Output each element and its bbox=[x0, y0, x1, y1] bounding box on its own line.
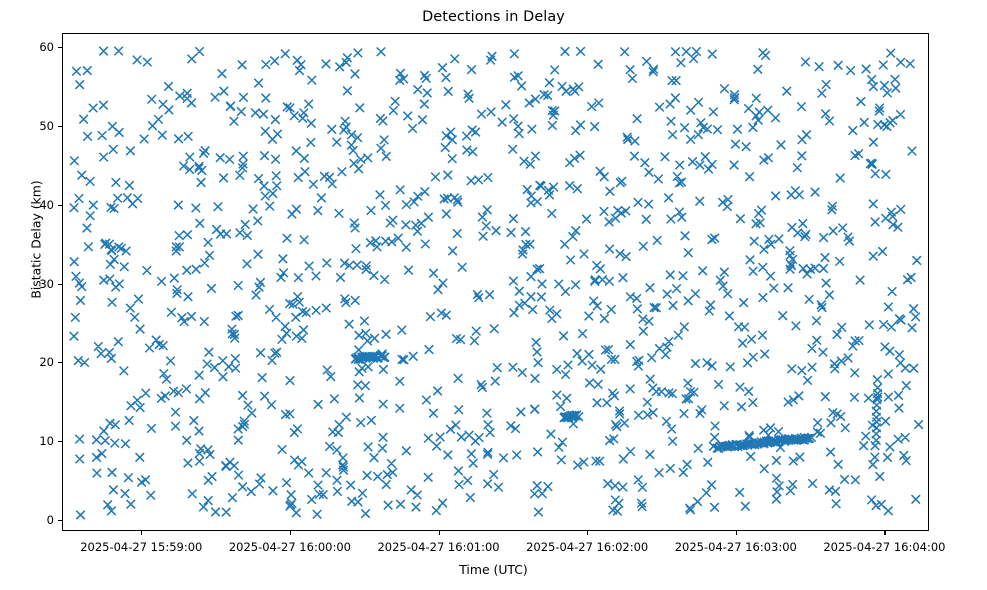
x-tick-mark bbox=[884, 531, 885, 535]
y-tick-mark bbox=[58, 520, 62, 521]
y-tick-label: 50 bbox=[30, 119, 54, 133]
x-tick-label: 2025-04-27 15:59:00 bbox=[80, 540, 202, 554]
y-tick-mark bbox=[58, 205, 62, 206]
x-tick-label: 2025-04-27 16:04:00 bbox=[823, 540, 945, 554]
x-tick-mark bbox=[439, 531, 440, 535]
x-axis-label: Time (UTC) bbox=[0, 562, 987, 577]
y-tick-label: 0 bbox=[30, 513, 54, 527]
matplotlib-figure: Detections in Delay 2025-04-27 15:59:002… bbox=[0, 0, 987, 590]
x-tick-mark bbox=[736, 531, 737, 535]
x-tick-mark bbox=[290, 531, 291, 535]
x-tick-label: 2025-04-27 16:01:00 bbox=[377, 540, 499, 554]
y-tick-mark bbox=[58, 126, 62, 127]
y-tick-mark bbox=[58, 284, 62, 285]
y-tick-label: 10 bbox=[30, 434, 54, 448]
y-tick-label: 60 bbox=[30, 40, 54, 54]
x-tick-mark bbox=[587, 531, 588, 535]
x-tick-mark bbox=[141, 531, 142, 535]
x-tick-label: 2025-04-27 16:02:00 bbox=[526, 540, 648, 554]
y-axis-label: Bistatic Delay (km) bbox=[29, 140, 44, 340]
x-tick-label: 2025-04-27 16:03:00 bbox=[675, 540, 797, 554]
y-tick-mark bbox=[58, 362, 62, 363]
scatter-markers bbox=[70, 47, 923, 519]
y-tick-mark bbox=[58, 47, 62, 48]
x-tick-label: 2025-04-27 16:00:00 bbox=[229, 540, 351, 554]
y-tick-mark bbox=[58, 441, 62, 442]
scatter-series bbox=[63, 34, 929, 531]
y-tick-label: 20 bbox=[30, 355, 54, 369]
page-title: Detections in Delay bbox=[0, 9, 987, 25]
plot-area bbox=[62, 33, 929, 531]
